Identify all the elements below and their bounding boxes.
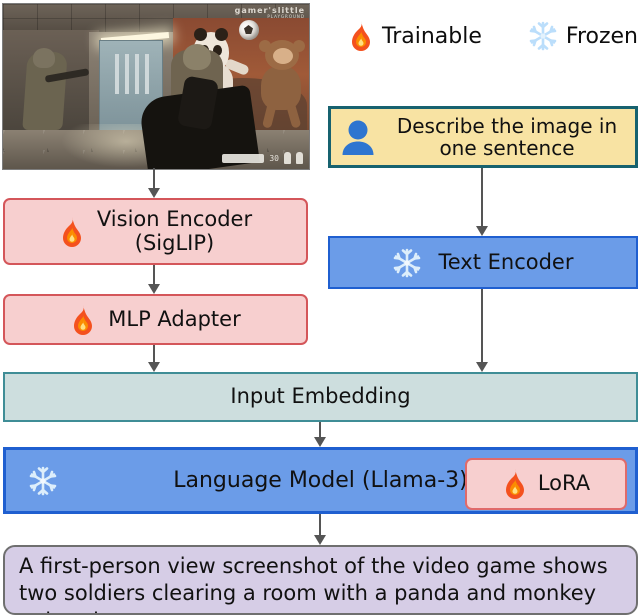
arrow-vision-encoder-to-mlp (148, 265, 161, 294)
input-embedding-box[interactable]: Input Embedding (3, 372, 638, 422)
output-box: A first-person view screenshot of the vi… (3, 545, 638, 615)
input-embedding-label: Input Embedding (230, 385, 410, 409)
arrow-embedding-to-language-model (314, 422, 327, 447)
user-icon (339, 119, 377, 155)
vision-encoder-label: Vision Encoder (SigLIP) (97, 208, 252, 255)
hud-weapon-icon (222, 154, 264, 163)
arrow-prompt-to-text-encoder (476, 168, 489, 236)
snowflake-icon (392, 248, 422, 278)
output-text: A first-person view screenshot of the vi… (5, 547, 636, 615)
arrow-mlp-to-embedding (148, 345, 161, 372)
text-encoder-box[interactable]: Text Encoder (328, 236, 638, 289)
legend-label-trainable: Trainable (382, 24, 482, 49)
prompt-box[interactable]: Describe the image in one sentence (328, 106, 638, 168)
arrow-language-model-to-output (314, 514, 327, 545)
legend: Trainable (348, 14, 640, 58)
vision-encoder-line2: (SigLIP) (135, 231, 214, 255)
vision-encoder-box[interactable]: Vision Encoder (SigLIP) (3, 198, 308, 265)
fire-icon (502, 469, 528, 499)
legend-label-frozen: Frozen (566, 24, 638, 49)
hud-teammate-icon-2 (296, 152, 303, 164)
input-image-scene: 30 gamer'slittle PLAYGROUND (3, 4, 309, 169)
watermark: gamer'slittle PLAYGROUND (235, 7, 305, 20)
mlp-adapter-label: MLP Adapter (108, 308, 240, 332)
text-encoder-label: Text Encoder (438, 251, 573, 275)
fire-icon (348, 21, 374, 51)
arrow-image-to-vision-encoder (148, 168, 161, 198)
pipeline-diagram: Trainable (0, 0, 640, 602)
watermark-sub: PLAYGROUND (235, 15, 305, 19)
hud: 30 (222, 152, 303, 164)
legend-item-frozen: Frozen (528, 21, 638, 51)
prompt-text: Describe the image in one sentence (387, 115, 627, 160)
hud-teammate-icon (284, 152, 291, 164)
legend-item-trainable: Trainable (348, 21, 482, 51)
vision-encoder-line1: Vision Encoder (97, 207, 252, 231)
hud-ammo: 30 (269, 154, 279, 163)
mlp-adapter-box[interactable]: MLP Adapter (3, 294, 308, 345)
input-image: 30 gamer'slittle PLAYGROUND (2, 3, 310, 170)
snowflake-icon (528, 21, 558, 51)
arrow-text-encoder-to-embedding (476, 289, 489, 372)
lora-label: LoRA (538, 472, 590, 496)
soccer-ball-icon (239, 20, 259, 40)
fire-icon (59, 217, 85, 247)
fire-icon (70, 305, 96, 335)
language-model-box[interactable]: Language Model (Llama-3) LoRA (3, 447, 638, 514)
lora-box[interactable]: LoRA (465, 458, 627, 510)
